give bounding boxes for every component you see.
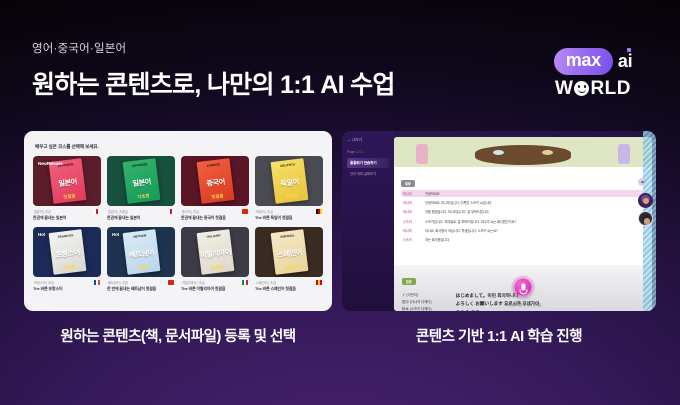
course-card-meta: 프랑스어 | 초급 [33,280,101,285]
dialog-section-tag: 회화 [401,180,415,188]
course-card-badge: Hot [112,232,119,238]
logo-world-right: RLD [590,79,631,98]
course-card-grid: NewRelease JAPANESE 일본어 첫걸음 일본어 | 초급 한권에… [24,150,332,292]
dialog-speaker: 스즈키 [403,219,421,224]
course-card-thumb[interactable]: JAPANESE 일본어 기초편 [107,156,175,206]
illustration-plate-2 [542,150,553,155]
country-flag-icon [242,209,248,213]
course-card-thumb[interactable]: Hot VIETNAM 베트남어 첫걸음 [107,227,175,277]
course-book-level: 첫걸음 [200,263,233,273]
course-card-thumb[interactable]: ITALIANO 이탈리아어 첫걸음 [181,227,249,277]
course-book-cover: FRANCAIS 프랑스어 첫걸음 [48,229,86,275]
course-card[interactable]: Hot VIETNAM 베트남어 첫걸음 베트남어 | 초급 한 번에 끝내는 … [107,227,175,292]
course-card-meta: 일본어 | 초중급 [107,209,175,214]
dialog-speaker: 미나미 [403,209,421,214]
dialog-speaker: 스즈키 [403,237,421,242]
course-card-name: 한권에 끝내는 일본어 [33,215,101,221]
ai-lesson-panel: ← 나가기 Page 1 / 1 통통튀기 연습하기 단어 의미 살펴보기 회화 [342,131,656,311]
course-card[interactable]: ITALIANO 이탈리아어 첫걸음 이탈리아어 | 초급 The 바른 이탈리… [181,227,249,292]
participant-avatars [638,193,653,226]
course-book-title: 중국어 [205,176,225,188]
course-book-title: 스페인어 [276,247,302,260]
dialog-line[interactable]: 스즈키 스즈키입니다. 저야말로, 잘 부탁드립니다. 미나미 씨는 회사원인가… [401,218,645,225]
country-flag-icon [168,209,174,213]
illustration-table [475,145,571,165]
screenshot-panels: 배우고 싶은 코스를 선택해 보세요. NewRelease JAPANESE … [24,131,656,311]
course-card[interactable]: Hot FRANCAIS 프랑스어 첫걸음 프랑스어 | 초급 The 바른 프… [33,227,101,292]
dialog-line-list: 미나미 안녕하세요. 미나미 안녕하세요. 미나미입니다, 이쪽은 스즈키 씨입… [401,190,645,242]
dialog-text: 처음 뵙겠습니다, 미나미입니다. 잘 부탁드립니다. [425,209,489,214]
logo-ai-dot [627,48,631,52]
course-card-meta: 이탈리아어 | 초급 [181,280,249,285]
course-book-level: 첫걸음 [200,192,233,202]
logo-max-text: max [566,50,601,70]
dialog-line[interactable]: 미나미 안녕하세요. [401,190,645,197]
japanese-speaker: イ (이민지) [402,292,432,299]
user-avatar[interactable] [638,211,653,226]
course-card-sub: 일본어 | 초급 [34,209,51,214]
dialog-speaker: 미나미 [403,200,421,205]
eyebrow-text: 영어·중국어·일본어 [32,40,395,56]
course-book-cover: ESPANOL 스페인어 첫걸음 [270,229,308,275]
logo-world-left: W [555,79,573,98]
dialog-text: 스즈키입니다. 저야말로, 잘 부탁드립니다. 미나미 씨는 회사원인가요? [425,219,516,224]
dialog-speaker: 미나미 [403,228,421,233]
illustration-chair-right [618,144,630,164]
course-book-cover: DEUTSCH 독일어 첫걸음 [270,158,308,204]
course-book-subtitle: ITALIANO [196,232,229,240]
logo-ai-wrap: ai [618,52,632,72]
course-card-badge: NewRelease [38,161,63,167]
header-block: 영어·중국어·일본어 원하는 콘텐츠로, 나만의 1:1 AI 수업 [32,40,395,101]
course-card-thumb[interactable]: ESPANOL 스페인어 첫걸음 [255,227,323,277]
dialog-line[interactable]: 스즈키 저는 회사원입니다. [401,236,645,243]
country-flag-icon [242,280,248,284]
country-flag-icon [94,209,100,213]
course-book-level: 첫걸음 [52,192,85,202]
dialog-line[interactable]: 미나미 처음 뵙겠습니다, 미나미입니다. 잘 부탁드립니다. [401,208,645,215]
country-flag-icon [316,280,322,284]
course-card[interactable]: NewRelease JAPANESE 일본어 첫걸음 일본어 | 초급 한권에… [33,156,101,221]
course-card-thumb[interactable]: DEUTSCH 독일어 첫걸음 [255,156,323,206]
course-card-badge: Hot [38,232,45,238]
caption-left: 원하는 콘텐츠(책, 문서파일) 등록 및 선택 [24,325,332,346]
smiley-face-icon [574,81,589,96]
logo-world-row: W RLD [533,79,653,98]
dialog-speaker: 미나미 [403,191,421,196]
course-book-title: 독일어 [279,176,299,188]
dialog-text: 아니요, 회사원이 아닙니다. 학생입니다. 스즈키 씨는요? [425,228,498,233]
page-indicator: Page 1 / 1 [347,150,389,154]
course-card-name: The 바른 이탈리아어 첫걸음 [181,286,249,292]
course-card-thumb[interactable]: NewRelease JAPANESE 일본어 첫걸음 [33,156,101,206]
brand-logo: max ai W RLD [533,48,653,98]
dialog-transcript: 회화 미나미 안녕하세요. 미나미 안녕하세요. 미나미입니다, 이쪽은 스즈키… [394,167,652,265]
course-card-name: The 바른 프랑스어 [33,286,101,292]
course-card-sub: 이탈리아어 | 초급 [182,280,205,285]
course-book-title: 일본어 [131,176,151,188]
course-card[interactable]: ESPANOL 스페인어 첫걸음 스페인어 | 초급 The 바른 스페인어 첫… [255,227,323,292]
dialog-line[interactable]: 미나미 안녕하세요. 미나미입니다, 이쪽은 스즈키 씨입니다. [401,199,645,206]
course-card[interactable]: DEUTSCH 독일어 첫걸음 독일어 | 초급 The 바른 독일어 첫걸음 [255,156,323,221]
course-card-meta: 베트남어 | 초급 [107,280,175,285]
caption-row: 원하는 콘텐츠(책, 문서파일) 등록 및 선택 콘텐츠 기반 1:1 AI 학… [24,325,656,346]
illustration-plate-1 [493,150,504,155]
course-card-name: The 바른 독일어 첫걸음 [255,215,323,221]
japanese-speaker-column: イ (이민지)田中 (다나카 다케다)鈴木 (스즈키 다케다) [402,292,432,311]
course-book-title: 일본어 [57,176,77,188]
course-book-title: 이탈리아어 [199,247,231,261]
course-card-name: 한 번에 끝내는 베트남어 첫걸음 [107,286,175,292]
course-card-meta: 스페인어 | 초급 [255,280,323,285]
course-card-sub: 중국어 | 초급 [182,209,199,214]
course-card-name: 한권에 끝내는 일본어 [107,215,175,221]
course-card[interactable]: JAPANESE 일본어 기초편 일본어 | 초중급 한권에 끝내는 일본어 [107,156,175,221]
japanese-sentence-column: はじめまして。이민 회의하니다よろしく お願いします 요로시쿠 오네가이こちら … [456,292,540,311]
microphone-glyph [521,284,525,291]
lesson-sidebar: ← 나가기 Page 1 / 1 통통튀기 연습하기 단어 의미 살펴보기 [342,131,394,311]
page-title: 원하는 콘텐츠로, 나만의 1:1 AI 수업 [32,65,395,101]
course-book-subtitle: CHINESE [196,161,229,169]
course-book-level: 첫걸음 [126,263,159,273]
course-book-level: 기초편 [126,192,159,202]
japanese-speaker: 鈴木 (스즈키 다케다) [402,306,432,311]
course-card-sub: 일본어 | 초중급 [108,209,128,214]
course-card-name: 한권에 끝내는 중국어 첫걸음 [181,215,249,221]
dialog-text: 안녕하세요. [425,191,440,196]
microphone-caption: 마이크를 누른 후 말해 보세요 [505,303,541,307]
course-card-thumb[interactable]: Hot FRANCAIS 프랑스어 첫걸음 [33,227,101,277]
country-flag-icon [168,280,174,284]
course-book-level: 첫걸음 [274,263,307,273]
course-card-meta: 일본어 | 초급 [33,209,101,214]
course-book-level: 첫걸음 [52,263,85,273]
country-flag-icon [316,209,322,213]
course-book-cover: ITALIANO 이탈리아어 첫걸음 [196,229,234,275]
course-book-subtitle: DEUTSCH [270,161,303,169]
logo-ai-text: ai [618,51,632,71]
course-book-subtitle: VIETNAM [122,232,155,240]
lesson-illustration [394,137,652,167]
logo-top-row: max ai [533,48,653,75]
course-card-sub: 스페인어 | 초급 [256,280,276,285]
course-card-meta: 독일어 | 초급 [255,209,323,214]
ai-lesson-window: ← 나가기 Page 1 / 1 통통튀기 연습하기 단어 의미 살펴보기 회화 [342,131,656,311]
course-card-sub: 프랑스어 | 초급 [34,280,54,285]
course-card[interactable]: CHINESE 중국어 첫걸음 중국어 | 초급 한권에 끝내는 중국어 첫걸음 [181,156,249,221]
course-card-name: The 바른 스페인어 첫걸음 [255,286,323,292]
caption-right: 콘텐츠 기반 1:1 AI 학습 진행 [342,325,656,346]
lesson-content: 회화 미나미 안녕하세요. 미나미 안녕하세요. 미나미입니다, 이쪽은 스즈키… [394,137,652,311]
course-book-cover: JAPANESE 일본어 기초편 [122,158,160,204]
japanese-text-block: 본문 イ (이민지)田中 (다나카 다케다)鈴木 (스즈키 다케다) はじめまし… [394,265,652,311]
microphone-icon[interactable] [515,279,532,296]
course-book-cover: CHINESE 중국어 첫걸음 [196,158,234,204]
course-card-sub: 베트남어 | 초급 [108,280,128,285]
course-book-cover: VIETNAM 베트남어 첫걸음 [122,229,160,275]
sidebar-item-practice[interactable]: 통통튀기 연습하기 [347,158,389,168]
country-flag-icon [94,280,100,284]
course-panel-title: 배우고 싶은 코스를 선택해 보세요. [24,131,332,150]
course-book-subtitle: FRANCAIS [48,232,81,240]
illustration-chair-left [416,144,428,164]
course-book-title: 베트남어 [128,247,154,260]
course-book-title: 프랑스어 [54,247,80,260]
course-book-level: 첫걸음 [274,192,307,202]
course-card-sub: 독일어 | 초급 [256,209,273,214]
dialog-text: 저는 회사원입니다. [425,237,450,242]
dialog-text: 안녕하세요. 미나미입니다, 이쪽은 스즈키 씨입니다. [425,200,492,205]
course-book-subtitle: ESPANOL [270,232,303,240]
course-selection-panel: 배우고 싶은 코스를 선택해 보세요. NewRelease JAPANESE … [24,131,332,311]
course-card-thumb[interactable]: CHINESE 중국어 첫걸음 [181,156,249,206]
tutor-avatar[interactable] [638,193,653,208]
course-book-subtitle: JAPANESE [122,161,155,169]
japanese-sentence: こちら こそ [456,309,540,311]
japanese-section-tag: 본문 [402,278,416,285]
course-card-meta: 중국어 | 초급 [181,209,249,214]
japanese-speaker: 田中 (다나카 다케다) [402,299,432,306]
sidebar-item-vocab[interactable]: 단어 의미 살펴보기 [347,171,389,176]
logo-pill: max [554,48,613,75]
dialog-line[interactable]: 미나미 아니요, 회사원이 아닙니다. 학생입니다. 스즈키 씨는요? [401,227,645,234]
exit-button[interactable]: ← 나가기 [347,138,389,143]
